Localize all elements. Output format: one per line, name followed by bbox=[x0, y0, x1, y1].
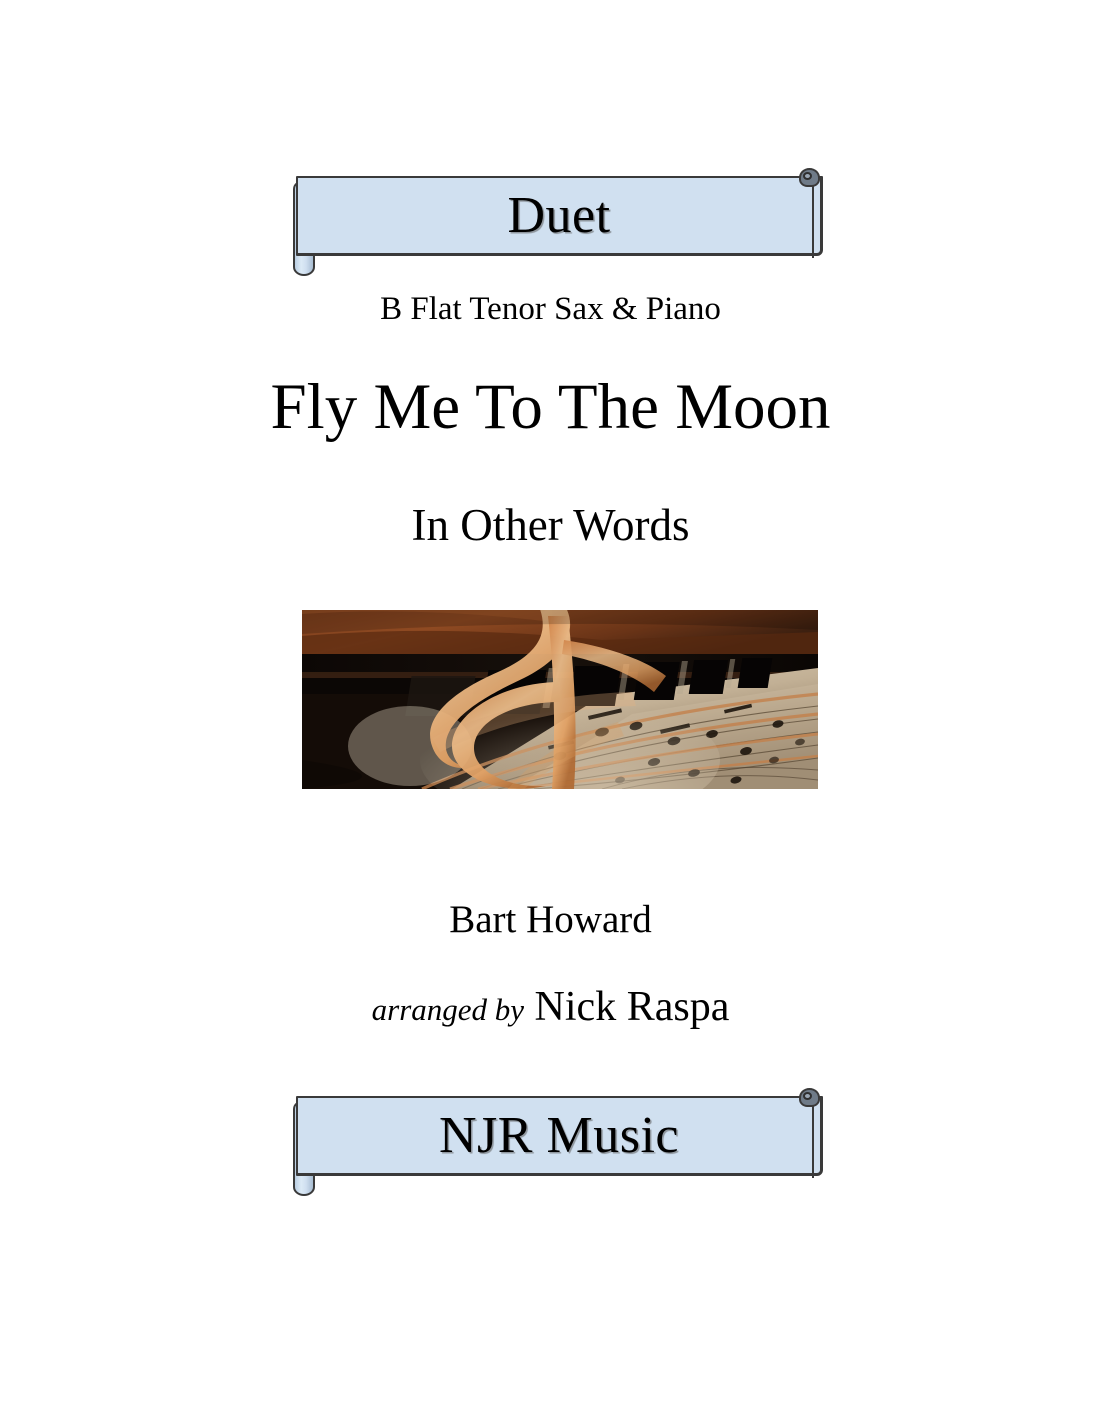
top-banner: Duet bbox=[296, 176, 823, 256]
cover-page: Duet B Flat Tenor Sax & Piano Fly Me To … bbox=[0, 0, 1101, 1425]
publisher-banner: NJR Music bbox=[296, 1096, 823, 1176]
cover-artwork-image bbox=[302, 610, 818, 789]
alternate-title: In Other Words bbox=[0, 501, 1101, 551]
arranger-line: arranged by Nick Raspa bbox=[0, 984, 1101, 1030]
publisher-banner-seam-right bbox=[812, 1096, 814, 1178]
banner-seam-right bbox=[812, 176, 814, 258]
instrumentation-line: B Flat Tenor Sax & Piano bbox=[0, 291, 1101, 327]
banner-scroll-curl-right-icon bbox=[803, 172, 812, 180]
publisher-banner-label: NJR Music bbox=[439, 1110, 679, 1162]
top-banner-group: Duet bbox=[0, 160, 1101, 280]
top-banner-label: Duet bbox=[507, 190, 610, 242]
cover-artwork-svg bbox=[302, 610, 818, 789]
arranger-prefix: arranged by bbox=[372, 992, 524, 1027]
arranger-name: Nick Raspa bbox=[535, 984, 730, 1030]
composer-name: Bart Howard bbox=[0, 899, 1101, 942]
bottom-banner-group: NJR Music bbox=[0, 1080, 1101, 1200]
publisher-banner-curl-right-icon bbox=[803, 1092, 812, 1100]
page-title: Fly Me To The Moon bbox=[0, 372, 1101, 444]
